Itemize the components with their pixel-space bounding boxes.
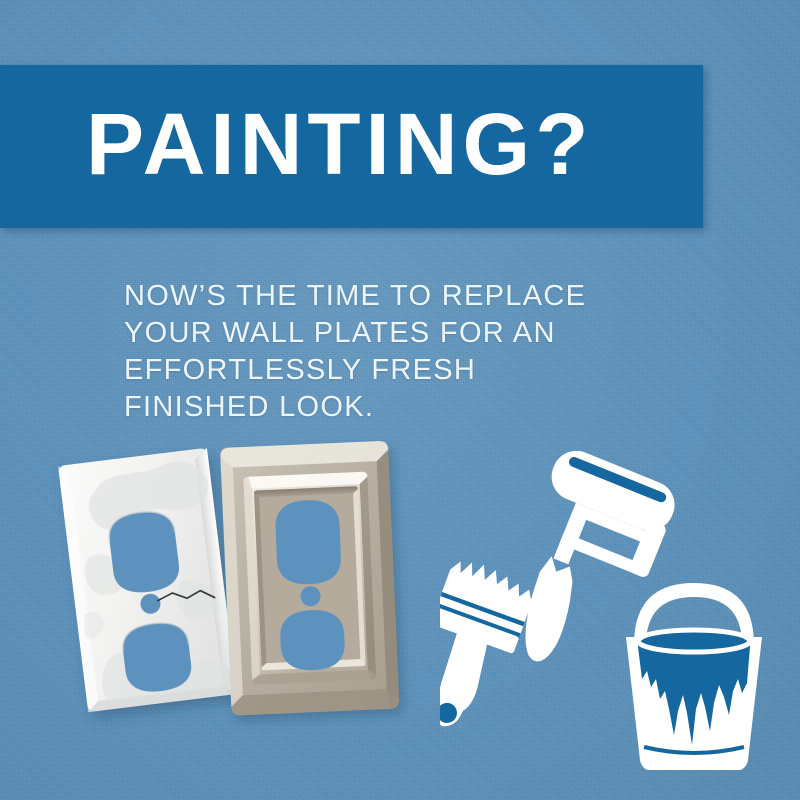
body-copy-line-1: NOW’S THE TIME TO REPLACE xyxy=(124,278,586,315)
page-title: PAINTING? xyxy=(86,101,593,188)
poster-canvas: PAINTING? NOW’S THE TIME TO REPLACE YOUR… xyxy=(0,0,800,800)
body-copy-line-3: EFFORTLESSLY FRESH xyxy=(124,352,586,389)
body-copy-line-2: YOUR WALL PLATES FOR AN xyxy=(124,315,586,352)
body-copy: NOW’S THE TIME TO REPLACE YOUR WALL PLAT… xyxy=(124,278,586,426)
headline-banner: PAINTING? xyxy=(0,65,703,228)
body-copy-line-4: FINISHED LOOK. xyxy=(124,389,586,426)
